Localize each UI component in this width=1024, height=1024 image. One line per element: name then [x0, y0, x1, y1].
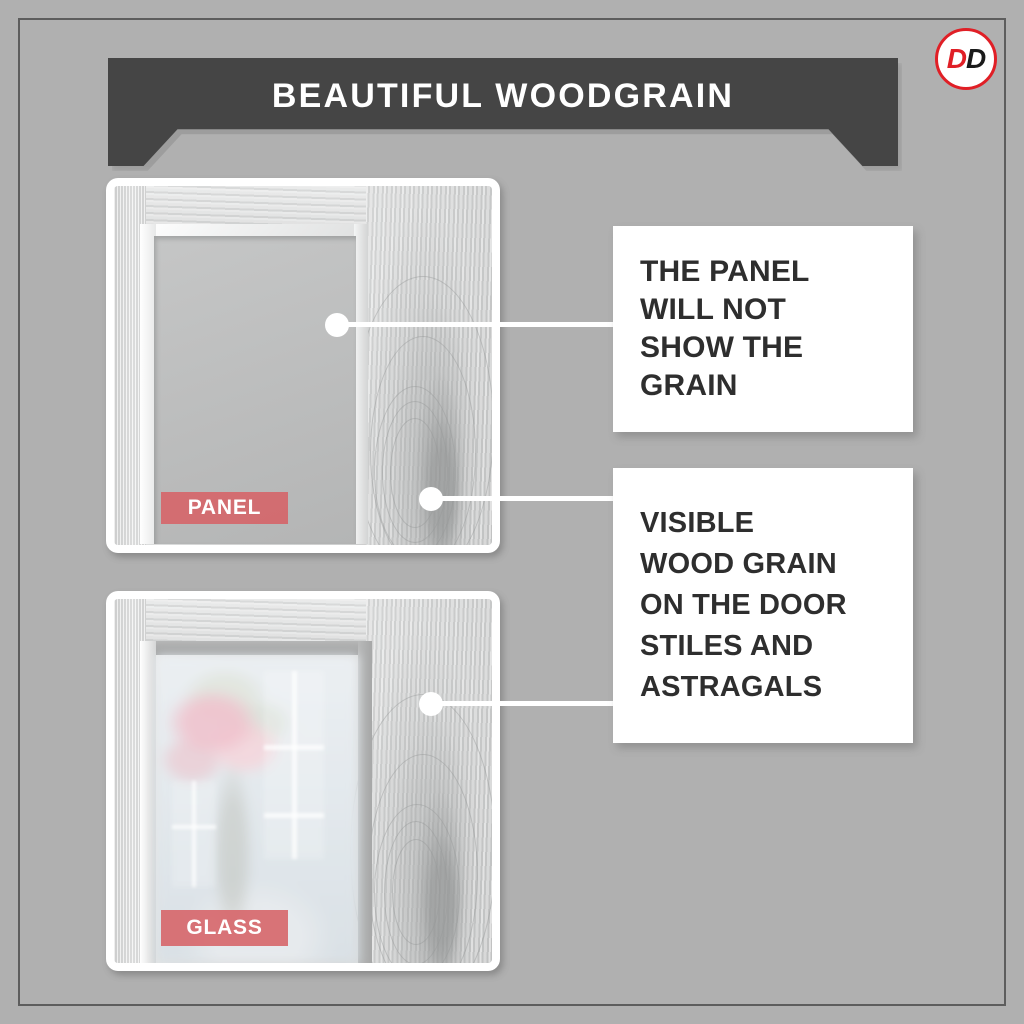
connector-dot-panel — [325, 313, 349, 337]
callout-2-line-5: ASTRAGALS — [640, 667, 913, 708]
window-mullion-v1 — [292, 671, 297, 859]
glass-bevel-right — [358, 641, 372, 963]
callout-2-line-2: WOOD GRAIN — [640, 544, 913, 585]
connector-line-stile-bottom — [431, 701, 617, 706]
title-banner: BEAUTIFUL WOODGRAIN — [108, 58, 898, 166]
tag-panel: PANEL — [161, 492, 288, 524]
window-mullion-v2 — [192, 781, 196, 887]
glass-bevel-top — [140, 641, 372, 655]
window-mullion-h2 — [264, 813, 324, 818]
connector-line-stile-top — [431, 496, 617, 501]
dd-logo[interactable]: DD — [935, 28, 997, 90]
tag-glass-label: GLASS — [186, 916, 262, 940]
callout-1-line-4: GRAIN — [640, 367, 913, 405]
connector-dot-stile-top — [419, 487, 443, 511]
callout-1-line-3: SHOW THE — [640, 329, 913, 367]
callout-panel-no-grain: THE PANEL WILL NOT SHOW THE GRAIN — [613, 226, 913, 432]
logo-letter-second: D — [966, 43, 985, 74]
glass-door-image: GLASS — [114, 599, 492, 963]
banner-ribbon: BEAUTIFUL WOODGRAIN — [108, 58, 898, 166]
connector-line-panel — [337, 322, 617, 327]
logo-text: DD — [947, 45, 985, 73]
callout-2-line-1: VISIBLE — [640, 503, 913, 544]
glass-door-photo-card[interactable]: GLASS — [106, 591, 500, 971]
callout-2-line-3: ON THE DOOR — [640, 585, 913, 626]
window-mullion-h3 — [172, 825, 216, 829]
door-top-rail-glass — [146, 599, 366, 643]
window-mullion-h1 — [264, 745, 324, 750]
callout-1-line-2: WILL NOT — [640, 291, 913, 329]
page-title: BEAUTIFUL WOODGRAIN — [272, 79, 734, 113]
tag-panel-label: PANEL — [188, 496, 262, 520]
tag-glass: GLASS — [161, 910, 288, 946]
infographic-canvas: BEAUTIFUL WOODGRAIN DD PANEL — [0, 0, 1024, 1024]
door-right-stile-woodgrain-glass — [366, 599, 492, 963]
panel-bevel-right — [354, 224, 368, 544]
callout-1-line-1: THE PANEL — [640, 253, 913, 291]
logo-letter-first: D — [947, 43, 966, 74]
connector-dot-stile-bottom — [419, 692, 443, 716]
callout-2-line-4: STILES AND — [640, 626, 913, 667]
glass-bevel-left — [140, 641, 156, 963]
callout-visible-woodgrain: VISIBLE WOOD GRAIN ON THE DOOR STILES AN… — [613, 468, 913, 743]
